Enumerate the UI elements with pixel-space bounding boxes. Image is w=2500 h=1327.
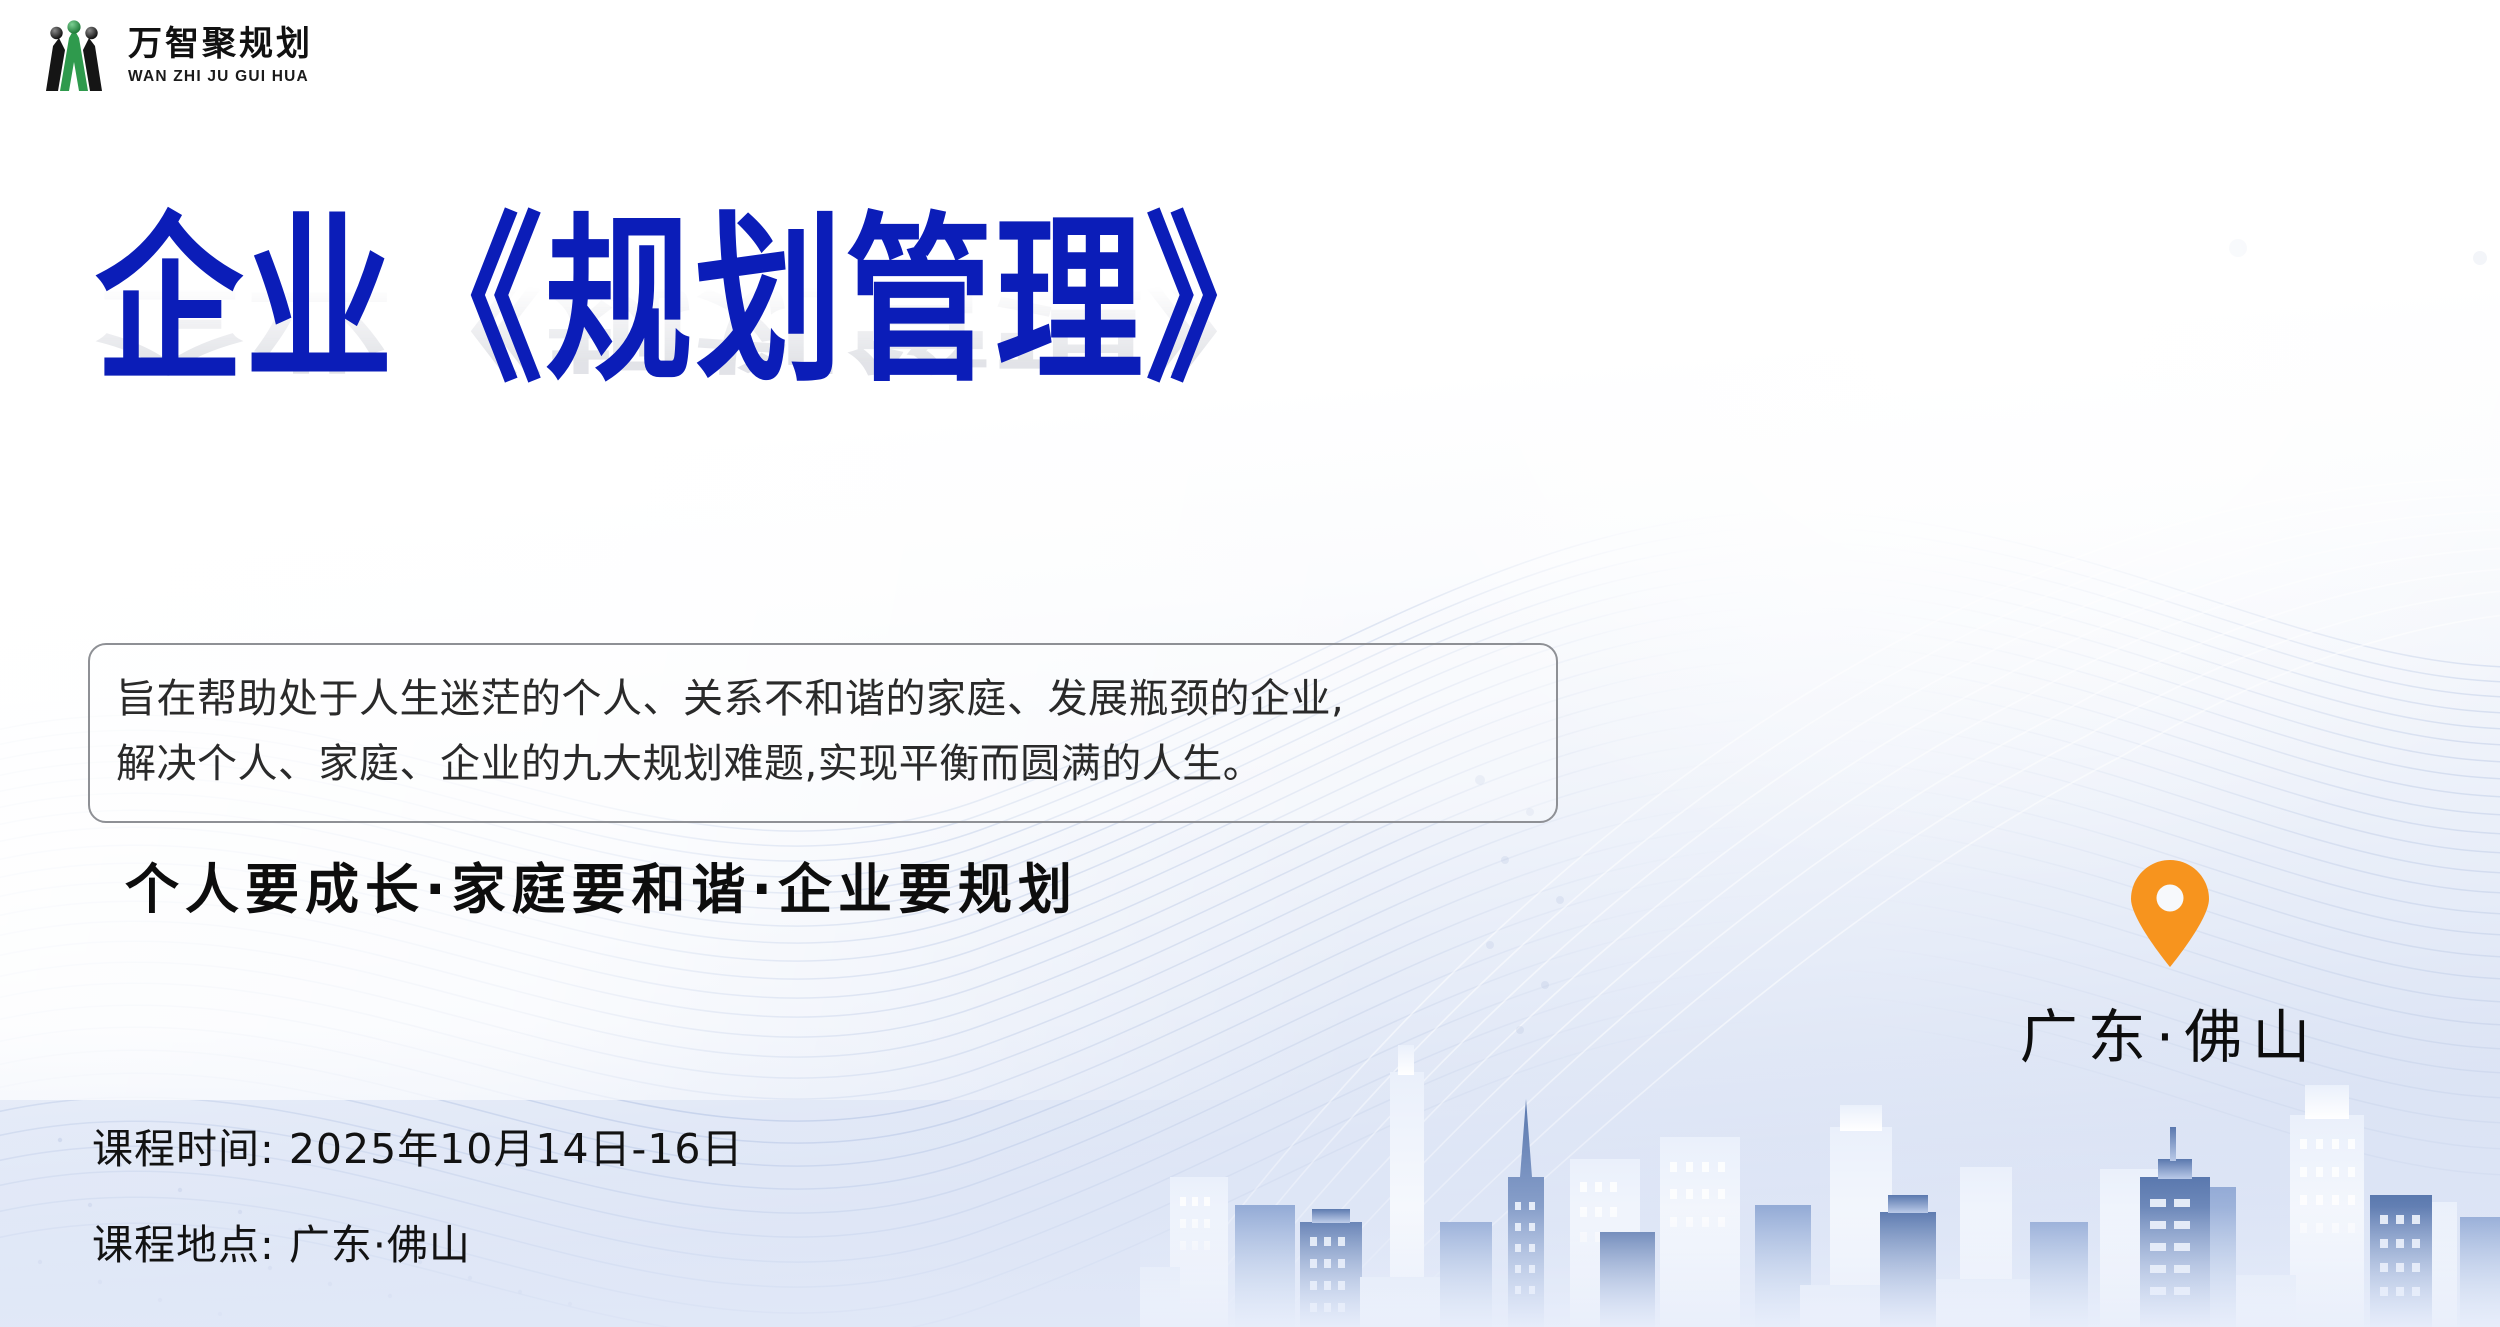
logo-wordmark: 万智聚规划 WAN ZHI JU GUI HUA xyxy=(128,27,313,85)
three-people-mountain-logo-icon xyxy=(34,20,114,92)
location-block: 广东·佛山 xyxy=(1960,860,2380,1074)
description-line-1: 旨在帮助处于人生迷茫的个人、关系不和谐的家庭、发展瓶颈的企业, xyxy=(116,667,1530,732)
course-time-row: 课程时间: 2025年10月14日-16日 xyxy=(92,1115,744,1175)
poster-canvas: 万智聚规划 WAN ZHI JU GUI HUA 企业《规划管理》 企业《规划管… xyxy=(0,0,2500,1327)
logo-name-cn: 万智聚规划 xyxy=(128,27,313,61)
brand-logo[interactable]: 万智聚规划 WAN ZHI JU GUI HUA xyxy=(34,20,313,92)
description-line-2: 解决个人、家庭、企业的九大规划难题,实现平衡而圆满的人生。 xyxy=(116,732,1530,797)
map-pin-icon xyxy=(2127,860,2213,968)
tagline-text: 个人要成长·家庭要和谐·企业要规划 xyxy=(125,845,1078,924)
hero-title: 企业《规划管理》 xyxy=(95,205,1695,400)
course-place-row: 课程地点: 广东·佛山 xyxy=(92,1211,744,1271)
left-white-fade xyxy=(0,0,1350,1100)
logo-name-en: WAN ZHI JU GUI HUA xyxy=(128,69,313,85)
location-city-label: 广东·佛山 xyxy=(1960,990,2380,1074)
description-box: 旨在帮助处于人生迷茫的个人、关系不和谐的家庭、发展瓶颈的企业, 解决个人、家庭、… xyxy=(88,643,1558,823)
hero-title-block: 企业《规划管理》 企业《规划管理》 xyxy=(95,205,1695,365)
course-info-block: 课程时间: 2025年10月14日-16日 课程地点: 广东·佛山 xyxy=(92,1115,744,1307)
